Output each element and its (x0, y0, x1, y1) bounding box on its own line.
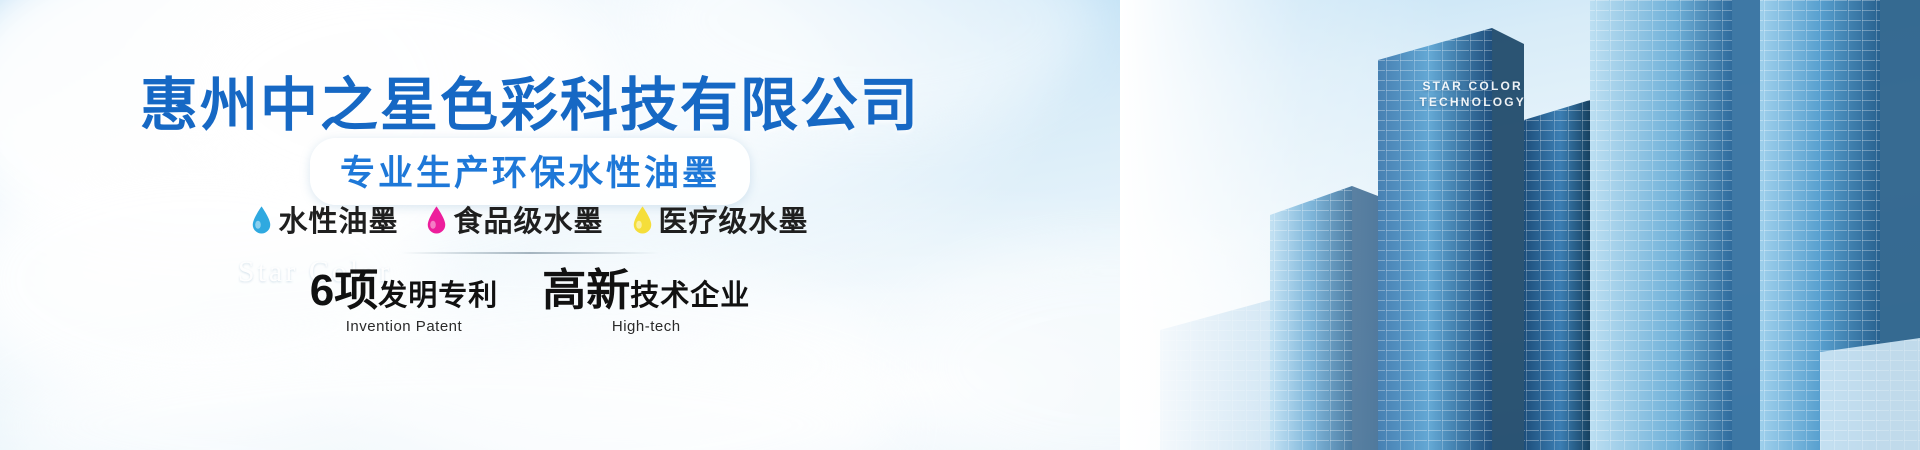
city-skyline-image (1120, 0, 1920, 450)
badge-small-text: 技术企业 (630, 281, 750, 311)
badge-english-caption: Invention Patent (346, 318, 462, 335)
feature-list: 水性油墨 食品级水墨 医疗级水墨 (0, 198, 1060, 240)
skyscrapers-illustration (1120, 0, 1920, 450)
badge-big-text: 6项 (310, 268, 378, 314)
badge-item: 6项 发明专利 Invention Patent (310, 268, 499, 335)
credential-badges: 6项 发明专利 Invention Patent 高新 技术企业 High-te… (0, 268, 1060, 335)
feature-item: 医疗级水墨 (632, 198, 809, 240)
feature-item: 水性油墨 (251, 198, 398, 240)
section-divider (401, 252, 659, 254)
water-drop-icon (632, 205, 653, 234)
badge-row: 高新 技术企业 (542, 268, 750, 314)
banner-content: 惠州中之星色彩科技有限公司 专业生产环保水性油墨 水性油墨 食品级水墨 (0, 0, 1060, 450)
subtitle-text: 专业生产环保水性油墨 (340, 145, 720, 196)
company-banner: Star Color (0, 0, 1920, 450)
feature-label: 食品级水墨 (453, 198, 603, 240)
badge-english-caption: High-tech (612, 318, 681, 335)
water-drop-icon (426, 205, 447, 234)
feature-label: 水性油墨 (278, 198, 398, 240)
badge-item: 高新 技术企业 High-tech (542, 268, 750, 335)
badge-row: 6项 发明专利 (310, 268, 499, 314)
badge-small-text: 发明专利 (378, 281, 498, 311)
company-title: 惠州中之星色彩科技有限公司 (0, 58, 1060, 142)
water-drop-icon (251, 205, 272, 234)
subtitle-pill: 专业生产环保水性油墨 (310, 138, 750, 205)
badge-big-text: 高新 (542, 268, 630, 314)
feature-label: 医疗级水墨 (659, 198, 809, 240)
feature-item: 食品级水墨 (426, 198, 603, 240)
